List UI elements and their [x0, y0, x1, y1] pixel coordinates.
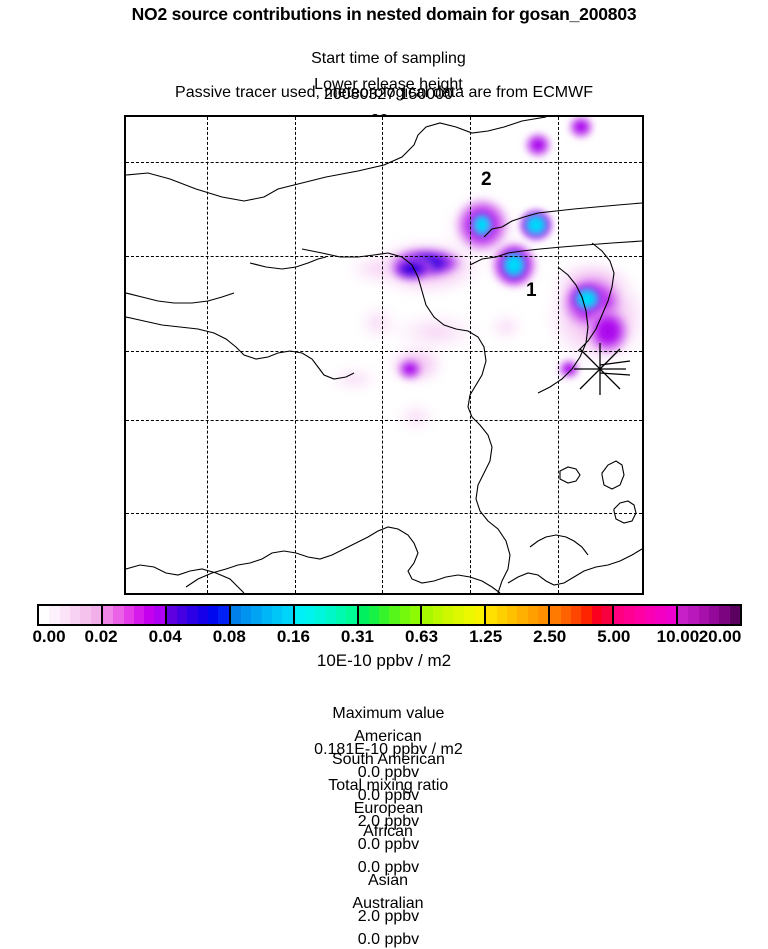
colorbar-step — [241, 606, 251, 624]
colorbar-step — [218, 606, 228, 624]
colorbar-segment-7 — [486, 606, 550, 624]
colorbar-step — [410, 606, 420, 624]
receptor-marker — [126, 117, 642, 593]
colorbar-step — [624, 606, 634, 624]
colorbar-step — [688, 606, 698, 624]
colorbar-tick-1: 0.02 — [85, 627, 118, 647]
colorbar-step — [538, 606, 548, 624]
colorbar-step — [369, 606, 379, 624]
colorbar-step — [561, 606, 571, 624]
region-name-african: African — [363, 823, 413, 840]
colorbar-step — [251, 606, 261, 624]
colorbar-step — [422, 606, 432, 624]
region-value-australian: 0.0 ppbv — [358, 931, 419, 948]
colorbar-tick-2: 0.04 — [149, 627, 182, 647]
colorbar-step — [113, 606, 123, 624]
method-note: Passive tracer used, meteorological data… — [0, 84, 768, 102]
colorbar-step — [678, 606, 688, 624]
colorbar-segment-9 — [614, 606, 678, 624]
colorbar-step — [208, 606, 218, 624]
colorbar-step — [359, 606, 369, 624]
colorbar-step — [497, 606, 507, 624]
colorbar-segment-5 — [359, 606, 423, 624]
colorbar-step — [730, 606, 740, 624]
colorbar-step — [486, 606, 496, 624]
colorbar-step — [507, 606, 517, 624]
colorbar-step — [464, 606, 474, 624]
map-plot-area[interactable]: 2 1 — [124, 115, 644, 595]
colorbar-step — [645, 606, 655, 624]
colorbar-tick-8: 2.50 — [533, 627, 566, 647]
colorbar-step — [91, 606, 101, 624]
region-name-australian: Australian — [352, 895, 423, 912]
colorbar-step — [134, 606, 144, 624]
colorbar-step — [474, 606, 484, 624]
plume-label-2: 2 — [481, 169, 492, 191]
colorbar-unit-label: 10E-10 ppbv / m2 — [0, 651, 768, 671]
colorbar-segment-10 — [678, 606, 740, 624]
colorbar-step — [571, 606, 581, 624]
colorbar-step — [187, 606, 197, 624]
colorbar-step — [443, 606, 453, 624]
colorbar-segment-4 — [295, 606, 359, 624]
colorbar-step — [581, 606, 591, 624]
colorbar-segment-1 — [103, 606, 167, 624]
colorbar-tick-3: 0.08 — [213, 627, 246, 647]
page-title: NO2 source contributions in nested domai… — [0, 4, 768, 25]
colorbar-step — [326, 606, 336, 624]
colorbar-tick-4: 0.16 — [277, 627, 310, 647]
colorbar-step — [699, 606, 709, 624]
colorbar-tick-9: 5.00 — [597, 627, 630, 647]
colorbar-segment-6 — [422, 606, 486, 624]
colorbar-segment-0 — [39, 606, 103, 624]
colorbar-step — [614, 606, 624, 624]
colorbar-step — [198, 606, 208, 624]
colorbar-tick-labels: 0.000.020.040.080.160.310.631.252.505.00… — [0, 627, 768, 649]
colorbar-step — [517, 606, 527, 624]
colorbar-step — [167, 606, 177, 624]
colorbar-step — [315, 606, 325, 624]
colorbar-step — [389, 606, 399, 624]
colorbar-tick-5: 0.31 — [341, 627, 374, 647]
colorbar-segment-8 — [550, 606, 614, 624]
colorbar-step — [103, 606, 113, 624]
colorbar-step — [528, 606, 538, 624]
plume-label-1: 1 — [526, 280, 537, 302]
colorbar-tick-0: 0.00 — [32, 627, 65, 647]
colorbar-tick-6: 0.63 — [405, 627, 438, 647]
colorbar-step — [592, 606, 602, 624]
colorbar-step — [231, 606, 241, 624]
colorbar-step — [305, 606, 315, 624]
region-name-south-american: South American — [332, 751, 445, 768]
colorbar-step — [453, 606, 463, 624]
colorbar-step — [49, 606, 59, 624]
colorbar-step — [177, 606, 187, 624]
colorbar-step — [144, 606, 154, 624]
colorbar-step — [400, 606, 410, 624]
colorbar-segment-3 — [231, 606, 295, 624]
colorbar-segment-2 — [167, 606, 231, 624]
colorbar-step — [655, 606, 665, 624]
colorbar-step — [709, 606, 719, 624]
colorbar-step — [666, 606, 676, 624]
colorbar-tick-10: 10.00 — [657, 627, 700, 647]
colorbar-step — [60, 606, 70, 624]
colorbar-step — [70, 606, 80, 624]
colorbar-step — [336, 606, 346, 624]
colorbar-step — [346, 606, 356, 624]
colorbar-step — [154, 606, 164, 624]
colorbar-tick-7: 1.25 — [469, 627, 502, 647]
colorbar-step — [282, 606, 292, 624]
colorbar-step — [80, 606, 90, 624]
colorbar-step — [433, 606, 443, 624]
colorbar-step — [39, 606, 49, 624]
colorbar-step — [262, 606, 272, 624]
colorbar-step — [602, 606, 612, 624]
colorbar-tick-11: 20.00 — [699, 627, 742, 647]
colorbar-step — [272, 606, 282, 624]
colorbar-step — [124, 606, 134, 624]
region-value-african: 0.0 ppbv — [358, 859, 419, 876]
region-row-2: South American 0.0 ppbv African 0.0 ppbv… — [0, 733, 768, 949]
colorbar-step — [295, 606, 305, 624]
colorbar-step — [719, 606, 729, 624]
colorbar[interactable] — [37, 604, 742, 626]
colorbar-step — [379, 606, 389, 624]
region-value-south-american: 0.0 ppbv — [358, 787, 419, 804]
colorbar-step — [635, 606, 645, 624]
colorbar-step — [550, 606, 560, 624]
